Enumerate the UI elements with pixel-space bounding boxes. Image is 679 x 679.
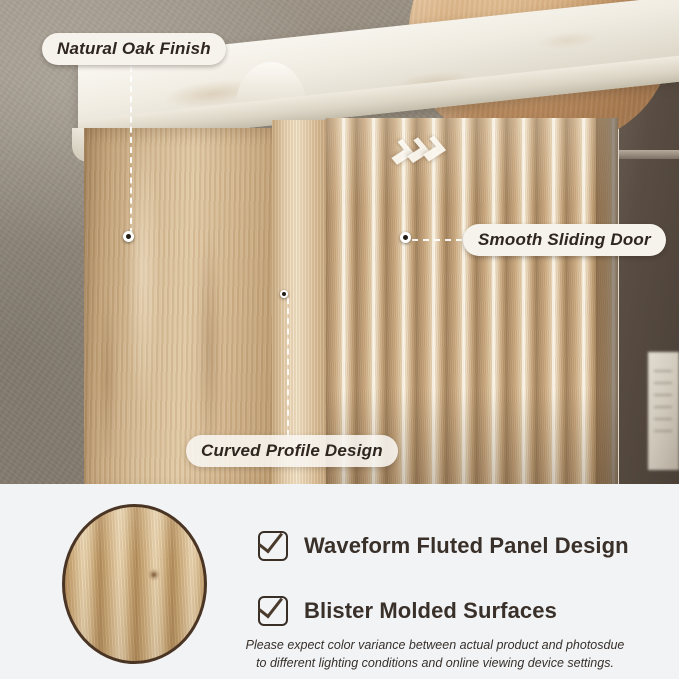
door-right-shadow (596, 118, 618, 484)
disclaimer-line-1: Please expect color variance between act… (200, 636, 670, 654)
callout-label-curved-profile-design: Curved Profile Design (186, 435, 398, 467)
callout-leader-line-curve (287, 298, 289, 436)
cabinet-oak-side-panel (84, 128, 280, 484)
cabinet-curved-corner (272, 120, 334, 484)
checkbox-checked-icon (258, 596, 288, 626)
feature-item: Waveform Fluted Panel Design (258, 531, 629, 561)
product-marketing-image: Natural Oak Finish Smooth Sliding Door C… (0, 0, 679, 679)
feature-item: Blister Molded Surfaces (258, 596, 557, 626)
shelf-book-object (648, 352, 679, 470)
product-photo: Natural Oak Finish Smooth Sliding Door C… (0, 0, 679, 484)
callout-marker-dot-door (400, 232, 411, 243)
callout-leader-line-door (412, 239, 462, 241)
checkbox-checked-icon (258, 531, 288, 561)
callout-leader-line-oak (130, 66, 132, 234)
shelf-board (612, 150, 679, 159)
callout-marker-dot-curve (280, 290, 288, 298)
callout-marker-dot-oak (123, 231, 134, 242)
callout-label-natural-oak-finish: Natural Oak Finish (42, 33, 226, 65)
check-tick (258, 527, 283, 554)
feature-label: Waveform Fluted Panel Design (304, 533, 629, 559)
fluted-oak-texture-swatch (62, 504, 207, 664)
disclaimer-line-2: to different lighting conditions and onl… (200, 654, 670, 672)
feature-panel: Waveform Fluted Panel Design Blister Mol… (0, 484, 679, 679)
color-variance-disclaimer: Please expect color variance between act… (200, 636, 670, 672)
fluted-sliding-door (326, 118, 618, 484)
check-tick (258, 592, 283, 619)
chevron-right-triple-icon (390, 128, 463, 171)
feature-label: Blister Molded Surfaces (304, 598, 557, 624)
callout-label-smooth-sliding-door: Smooth Sliding Door (463, 224, 666, 256)
door-shading-overlay (326, 118, 618, 484)
